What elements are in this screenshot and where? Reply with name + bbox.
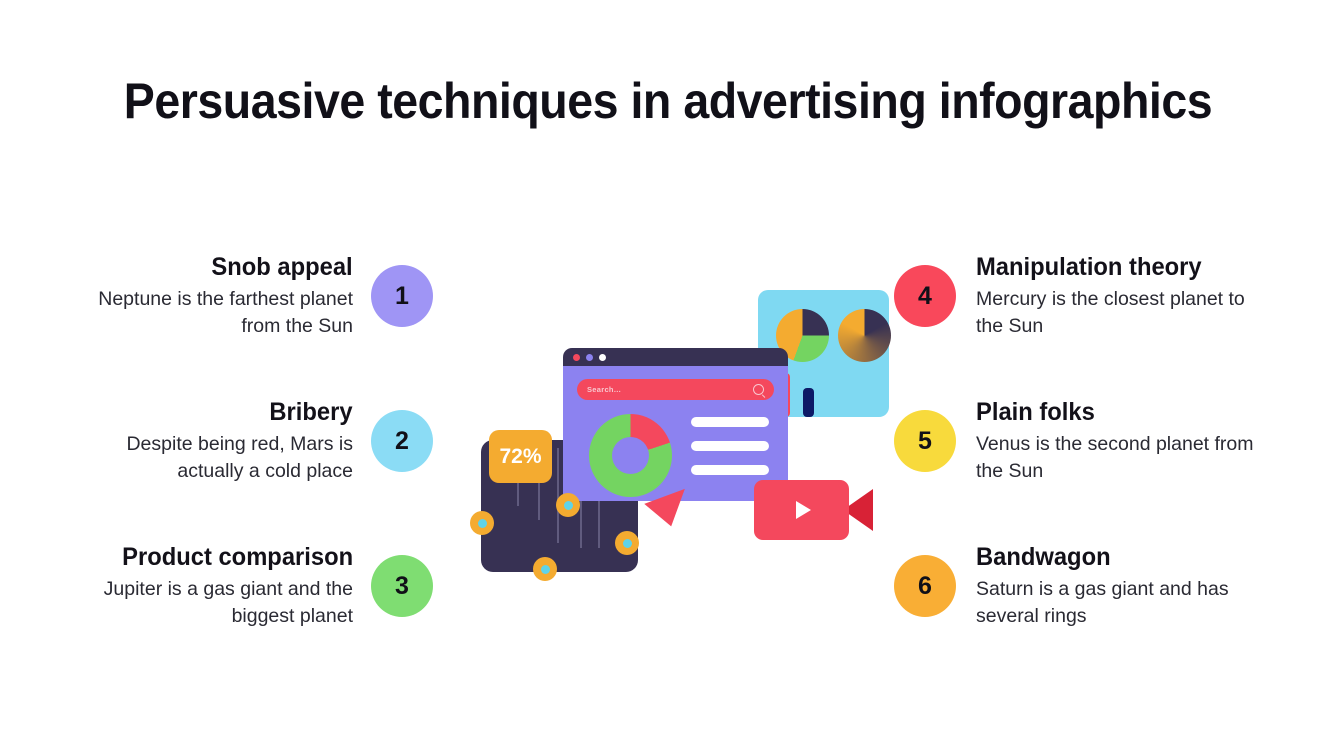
item-number: 1 (395, 282, 409, 311)
video-camera-icon (754, 480, 849, 540)
item-description: Neptune is the farthest planet from the … (85, 286, 353, 340)
item-text-block: Bribery Despite being red, Mars is actua… (85, 398, 353, 485)
list-item-2[interactable]: Bribery Despite being red, Mars is actua… (85, 398, 433, 485)
percentage-badge: 72% (489, 430, 552, 483)
item-title: Product comparison (122, 543, 353, 571)
data-pin-icon (470, 511, 494, 535)
search-placeholder-text: Search... (587, 385, 621, 394)
data-pin-icon (556, 493, 580, 517)
list-item-5[interactable]: 5 Plain folks Venus is the second planet… (894, 398, 1266, 485)
minimize-dot-icon[interactable] (586, 354, 593, 361)
item-number-badge-6[interactable]: 6 (894, 555, 956, 617)
item-title: Bandwagon (976, 543, 1111, 571)
search-input[interactable]: Search... (577, 379, 774, 400)
data-pin-icon (615, 531, 639, 555)
item-text-block: Plain folks Venus is the second planet f… (976, 398, 1266, 485)
item-number-badge-3[interactable]: 3 (371, 555, 433, 617)
data-pin-icon (533, 557, 557, 581)
item-description: Jupiter is a gas giant and the biggest p… (85, 576, 353, 630)
list-item-1[interactable]: Snob appeal Neptune is the farthest plan… (85, 253, 433, 340)
item-number-badge-2[interactable]: 2 (371, 410, 433, 472)
item-number: 3 (395, 572, 409, 601)
central-illustration: 72% Search... (470, 280, 870, 600)
content-line (691, 465, 769, 475)
item-text-block: Bandwagon Saturn is a gas giant and has … (976, 543, 1266, 630)
item-text-block: Snob appeal Neptune is the farthest plan… (85, 253, 353, 340)
item-number-badge-4[interactable]: 4 (894, 265, 956, 327)
list-item-3[interactable]: Product comparison Jupiter is a gas gian… (85, 543, 433, 630)
item-title: Bribery (270, 398, 353, 426)
browser-window[interactable]: Search... (563, 348, 788, 501)
item-description: Saturn is a gas giant and has several ri… (976, 576, 1266, 630)
bar-2 (803, 388, 814, 417)
content-line (691, 441, 769, 451)
search-icon[interactable] (753, 384, 764, 395)
item-description: Mercury is the closest planet to the Sun (976, 286, 1266, 340)
item-description: Venus is the second planet from the Sun (976, 431, 1266, 485)
item-text-block: Manipulation theory Mercury is the close… (976, 253, 1266, 340)
item-text-block: Product comparison Jupiter is a gas gian… (85, 543, 353, 630)
slide-canvas: Persuasive techniques in advertising inf… (0, 0, 1336, 752)
list-item-4[interactable]: 4 Manipulation theory Mercury is the clo… (894, 253, 1266, 340)
page-title: Persuasive techniques in advertising inf… (47, 72, 1289, 130)
item-title: Plain folks (976, 398, 1095, 426)
item-description: Despite being red, Mars is actually a co… (85, 431, 353, 485)
item-number: 2 (395, 427, 409, 456)
item-number-badge-1[interactable]: 1 (371, 265, 433, 327)
pie-chart-2 (838, 309, 891, 362)
item-number: 6 (918, 572, 932, 601)
browser-viewport: Search... (563, 366, 788, 501)
list-item-6[interactable]: 6 Bandwagon Saturn is a gas giant and ha… (894, 543, 1266, 630)
content-line (691, 417, 769, 427)
maximize-dot-icon[interactable] (599, 354, 606, 361)
item-number: 5 (918, 427, 932, 456)
item-title: Snob appeal (212, 253, 353, 281)
browser-titlebar (563, 348, 788, 366)
item-number-badge-5[interactable]: 5 (894, 410, 956, 472)
item-title: Manipulation theory (976, 253, 1202, 281)
item-number: 4 (918, 282, 932, 311)
play-icon (796, 501, 811, 519)
close-dot-icon[interactable] (573, 354, 580, 361)
